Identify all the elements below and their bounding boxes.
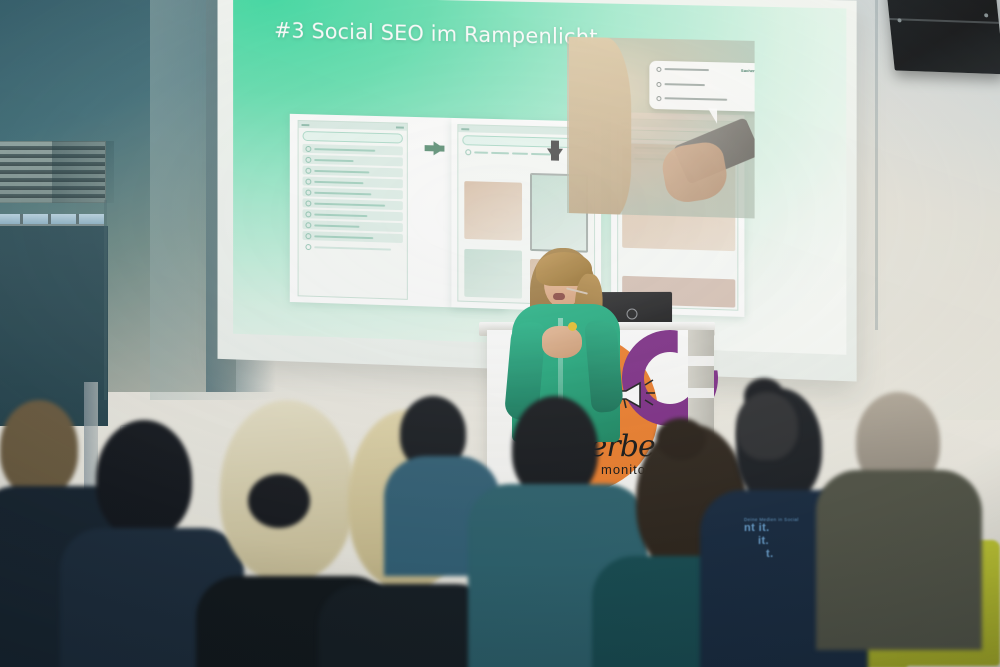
- dell-logo-icon: [627, 308, 638, 319]
- tshirt-line-top: nt it.: [744, 522, 770, 534]
- photo-hair: [569, 37, 631, 219]
- presentation-photo-scene: #3 Social SEO im Rampenlicht: [0, 0, 1000, 667]
- arrow-right-icon: [434, 141, 445, 155]
- suggestion-footer: [303, 242, 403, 254]
- search-icon: [656, 81, 661, 86]
- presenter-mouth: [553, 293, 565, 300]
- bubble-search-label: Suchen: [741, 68, 755, 73]
- suggestion-row: [303, 231, 403, 243]
- suggestion-row: [303, 155, 403, 167]
- search-icon: [656, 96, 661, 101]
- product-tile: [464, 181, 522, 241]
- search-icon: [656, 66, 661, 71]
- arrow-down-icon: [547, 148, 563, 160]
- ceiling-speaker-box: [886, 0, 1000, 74]
- photo-hand: [659, 140, 731, 205]
- phone-statusbar: [299, 121, 407, 131]
- vent-shadow: [52, 141, 114, 203]
- suggestion-row: [303, 209, 403, 221]
- suggestion-row: [303, 144, 403, 156]
- presenter-badge: [568, 322, 577, 331]
- suggestion-row: [303, 177, 403, 189]
- phone-search-field: [303, 131, 403, 144]
- suggestion-row: [303, 187, 403, 199]
- suggestion-row: [303, 198, 403, 210]
- wall-edge: [875, 0, 878, 330]
- suggestion-row: [303, 166, 403, 178]
- window-strip: [0, 214, 104, 226]
- tshirt-print: Deine Medien in Social nt it. it. t.: [744, 517, 799, 561]
- wall-panel-seam: [104, 200, 107, 400]
- search-suggestion-bubble: Suchen: [649, 61, 754, 112]
- speaker-seam: [889, 18, 999, 24]
- speaker-bolt: [984, 13, 988, 17]
- slide-title: #3 Social SEO im Rampenlicht: [274, 18, 598, 49]
- tshirt-line-mid: it.: [758, 535, 769, 547]
- presenter-hands: [542, 326, 582, 358]
- speaker-bolt: [897, 18, 901, 22]
- phone-frame-search: [298, 120, 408, 300]
- suggestion-row: [303, 220, 403, 232]
- woman-holding-phone-photo: Suchen: [567, 37, 755, 219]
- tshirt-line-bottom: t.: [766, 548, 774, 560]
